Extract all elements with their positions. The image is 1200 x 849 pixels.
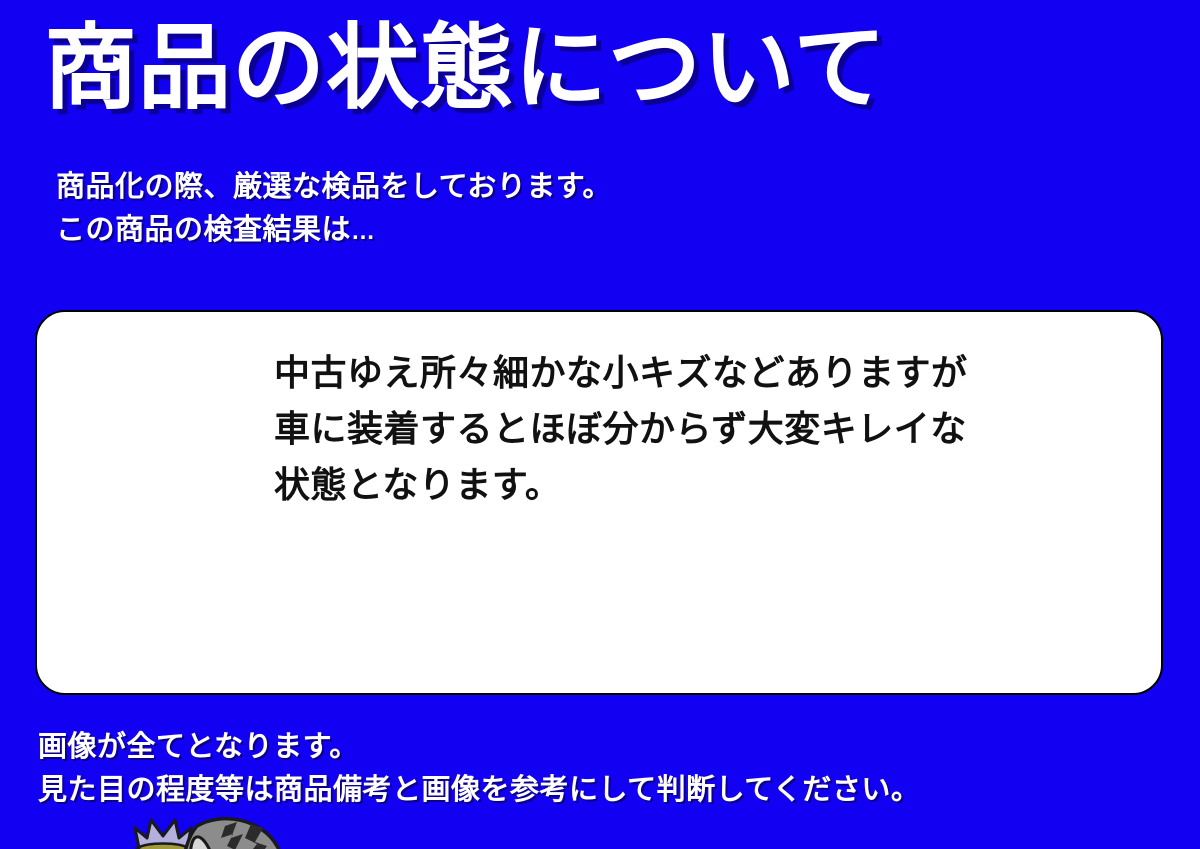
subtitle-line-2-text: この商品の検査結果は [56, 214, 351, 246]
condition-line-1: 中古ゆえ所々細かな小キズなどありますが [274, 345, 968, 401]
subtitle-block: 商品化の際、厳選な検品をしております。 この商品の検査結果は… [56, 166, 612, 253]
subtitle-line-2: この商品の検査結果は… [56, 209, 612, 253]
page-title: 商品の状態について [44, 12, 887, 124]
footer-line-2: 見た目の程度等は商品備考と画像を参考にして判断してください。 [38, 769, 920, 812]
condition-result-text: 中古ゆえ所々細かな小キズなどありますが 車に装着するとほぼ分からず大変キレイな … [274, 345, 968, 513]
money-bag-icon [133, 820, 193, 849]
product-condition-poster: 商品の状態について 商品化の際、厳選な検品をしております。 この商品の検査結果は… [0, 0, 1200, 849]
condition-line-2: 車に装着するとほぼ分からず大変キレイな [274, 401, 968, 457]
subtitle-line-1: 商品化の際、厳選な検品をしております。 [56, 166, 612, 209]
footer-line-1: 画像が全てとなります。 [38, 726, 920, 769]
condition-result-card: 中古ゆえ所々細かな小キズなどありますが 車に装着するとほぼ分からず大変キレイな … [35, 310, 1163, 695]
condition-line-3: 状態となります。 [274, 457, 968, 513]
subtitle-ellipsis: … [351, 218, 376, 245]
footer-note: 画像が全てとなります。 見た目の程度等は商品備考と画像を参考にして判断してくださ… [38, 726, 920, 812]
tire-head [182, 819, 287, 849]
